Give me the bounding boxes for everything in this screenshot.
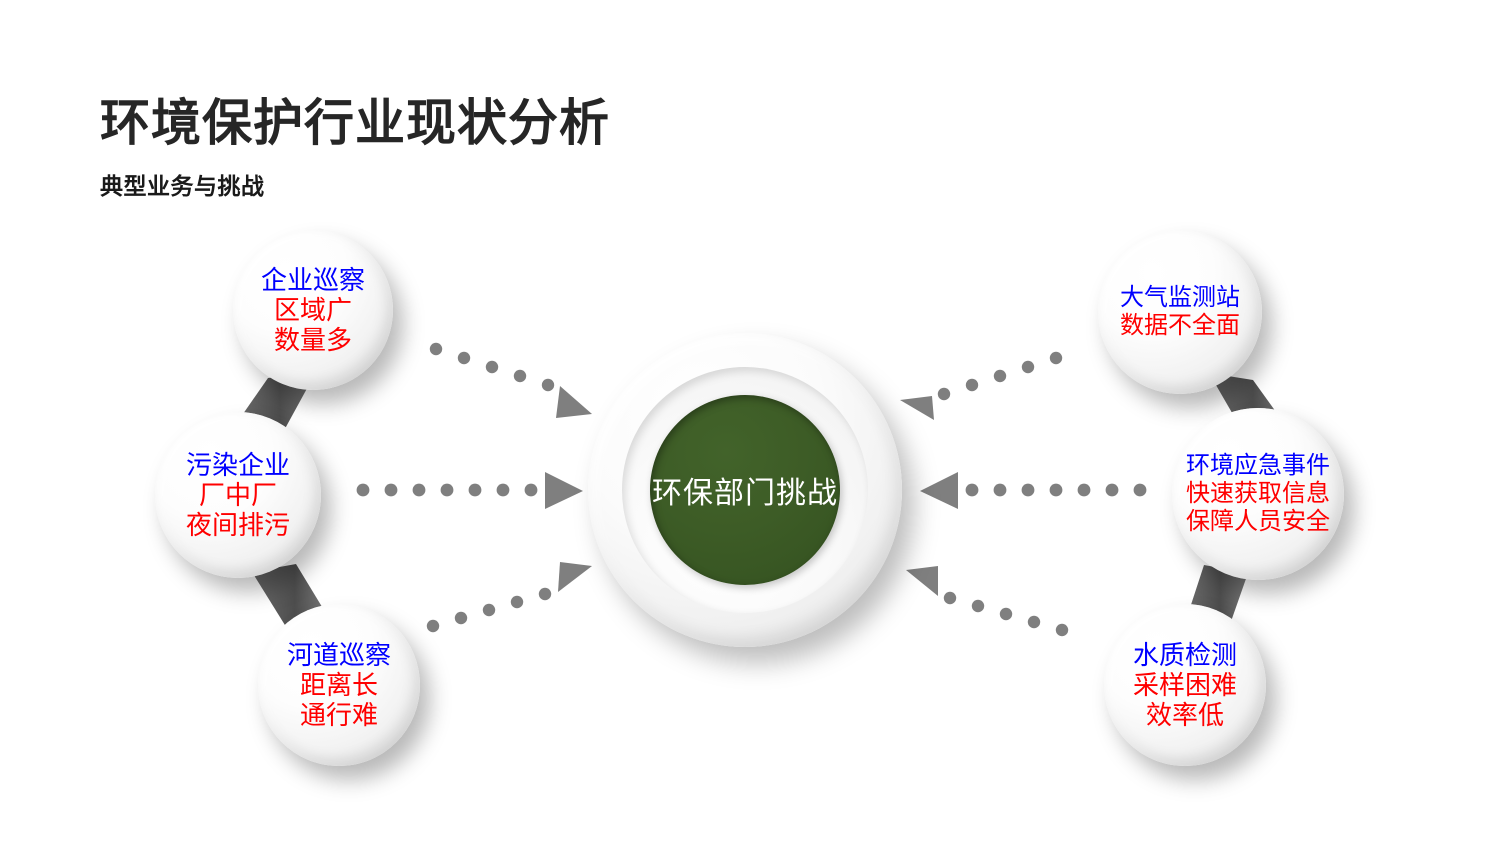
node-right-2-challenge-1: 快速获取信息 <box>1186 480 1330 508</box>
node-left-1-challenge-2: 数量多 <box>274 325 352 355</box>
node-left-1-topic: 企业巡察 <box>261 265 365 295</box>
arrow-right-bottom <box>906 566 1068 636</box>
arrow-right-middle <box>920 472 1146 509</box>
node-left-2-challenge-2: 夜间排污 <box>186 510 290 540</box>
center-hub-core: 环保部门挑战 <box>650 395 840 585</box>
node-right-3[interactable]: 水质检测 采样困难 效率低 <box>1104 604 1266 766</box>
node-left-2[interactable]: 污染企业 厂中厂 夜间排污 <box>155 412 321 578</box>
center-hub[interactable]: 环保部门挑战 <box>588 333 902 647</box>
node-left-2-topic: 污染企业 <box>186 450 290 480</box>
node-right-3-challenge-2: 效率低 <box>1146 700 1224 730</box>
center-hub-label: 环保部门挑战 <box>652 468 838 512</box>
arrow-left-top <box>430 343 592 418</box>
node-right-1-challenge-1: 数据不全面 <box>1120 312 1240 340</box>
node-left-1[interactable]: 企业巡察 区域广 数量多 <box>233 230 393 390</box>
node-right-3-topic: 水质检测 <box>1133 640 1237 670</box>
center-hub-ring: 环保部门挑战 <box>622 367 868 613</box>
arrow-left-bottom <box>427 562 592 632</box>
arrow-left-middle <box>357 472 583 509</box>
node-left-3[interactable]: 河道巡察 距离长 通行难 <box>258 604 420 766</box>
node-left-3-challenge-2: 通行难 <box>300 700 378 730</box>
node-right-1-topic: 大气监测站 <box>1120 284 1240 312</box>
node-left-2-challenge-1: 厂中厂 <box>199 480 277 510</box>
node-left-3-topic: 河道巡察 <box>287 640 391 670</box>
node-left-3-challenge-1: 距离长 <box>300 670 378 700</box>
arrow-right-top <box>900 352 1062 420</box>
node-right-2[interactable]: 环境应急事件 快速获取信息 保障人员安全 <box>1172 408 1344 580</box>
node-right-2-topic: 环境应急事件 <box>1186 452 1330 480</box>
node-right-1[interactable]: 大气监测站 数据不全面 <box>1098 230 1262 394</box>
node-left-1-challenge-1: 区域广 <box>274 295 352 325</box>
slide-canvas: 环境保护行业现状分析 典型业务与挑战 <box>0 0 1500 844</box>
node-right-2-challenge-2: 保障人员安全 <box>1186 508 1330 536</box>
node-right-3-challenge-1: 采样困难 <box>1133 670 1237 700</box>
